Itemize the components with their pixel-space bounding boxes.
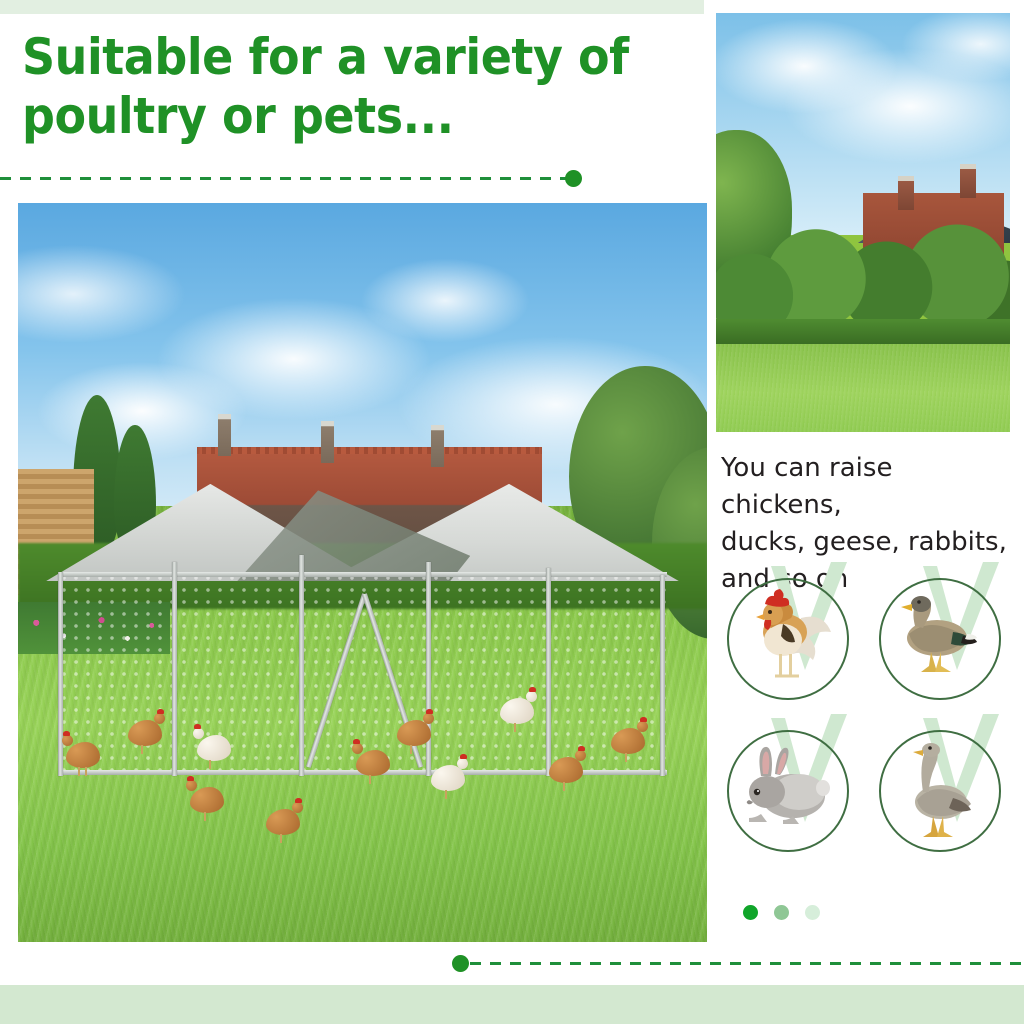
animal-icon-duck[interactable] [879, 578, 1003, 702]
chicken-comb [157, 709, 164, 714]
chicken-comb [578, 746, 585, 751]
chicken-comb [295, 798, 302, 803]
chicken-head [186, 780, 197, 791]
chicken-head [352, 743, 363, 754]
rabbit-icon [727, 730, 845, 848]
chicken-comb [187, 776, 194, 781]
rooster-icon [727, 578, 845, 696]
hero-product-photo: Large walk-in metal chicken coop with gr… [18, 203, 707, 942]
frame-post [299, 555, 304, 776]
frame-post [546, 568, 551, 776]
bottom-accent-band [0, 985, 1024, 1024]
headline-line-2: poultry or pets... [22, 87, 629, 146]
chicken-leg [209, 760, 211, 769]
frame-post [58, 572, 63, 777]
side-caption-line-2: ducks, geese, rabbits, [721, 524, 1017, 561]
animal-icon-grid [727, 578, 1017, 874]
frame-post [172, 562, 177, 777]
chicken-comb [194, 724, 201, 729]
chicken-leg [514, 723, 516, 732]
frame-post [426, 562, 431, 777]
animal-icon-rabbit[interactable] [727, 730, 851, 854]
chicken-comb [63, 731, 70, 736]
chicken-comb [640, 717, 647, 722]
chimney-icon [431, 425, 444, 467]
chicken-leg [410, 745, 412, 754]
pagination-dot[interactable] [805, 905, 820, 920]
chicken-leg [369, 775, 371, 784]
secondary-garden-photo: Sunny backyard lawn with trees, hedges a… [716, 13, 1010, 432]
top-accent-band [0, 0, 704, 14]
pagination-dot-active[interactable] [743, 905, 758, 920]
chicken-figure [397, 720, 431, 746]
chicken-figure [549, 757, 583, 783]
page-title: Suitable for a variety of poultry or pet… [22, 28, 629, 146]
chicken-leg [563, 782, 565, 791]
chicken-figure [66, 742, 100, 768]
chicken-figure [128, 720, 162, 746]
chimney-icon [218, 414, 231, 456]
side-lawn [716, 344, 1010, 432]
goose-icon [879, 730, 997, 848]
chicken-leg [204, 812, 206, 821]
product-infographic-page: Suitable for a variety of poultry or pet… [0, 0, 1024, 1024]
chimney-icon [321, 421, 334, 463]
animal-icon-rooster[interactable] [727, 578, 851, 702]
pagination-dots[interactable] [743, 905, 820, 920]
chicken-head [292, 802, 303, 813]
chicken-comb [460, 754, 467, 759]
chicken-figure [190, 787, 224, 813]
headline-line-1: Suitable for a variety of [22, 28, 629, 87]
chicken-head [457, 758, 468, 769]
chicken-head [575, 750, 586, 761]
chicken-comb [353, 739, 360, 744]
top-rule-dot [565, 170, 582, 187]
duck-icon [879, 578, 997, 696]
chicken-leg [280, 834, 282, 843]
frame-beam [58, 572, 667, 577]
side-caption-line-1: You can raise chickens, [721, 450, 1017, 524]
chicken-comb [529, 687, 536, 692]
chicken-comb [426, 709, 433, 714]
bottom-rule-dot [452, 955, 469, 972]
animal-icon-goose[interactable] [879, 730, 1003, 854]
chicken-leg [445, 790, 447, 799]
pagination-dot[interactable] [774, 905, 789, 920]
chicken-figure [197, 735, 231, 761]
chicken-leg [625, 753, 627, 762]
chicken-head [637, 721, 648, 732]
bottom-dashed-rule [470, 962, 1024, 965]
frame-post [660, 575, 665, 777]
chimney-icon [898, 176, 914, 210]
chimney-icon [960, 164, 976, 198]
chicken-leg [78, 767, 80, 776]
chicken-leg [141, 745, 143, 754]
chicken-figure [431, 765, 465, 791]
chicken-leg [85, 767, 87, 776]
top-dashed-rule [0, 177, 572, 180]
chicken-figure [500, 698, 534, 724]
chicken-figure [266, 809, 300, 835]
